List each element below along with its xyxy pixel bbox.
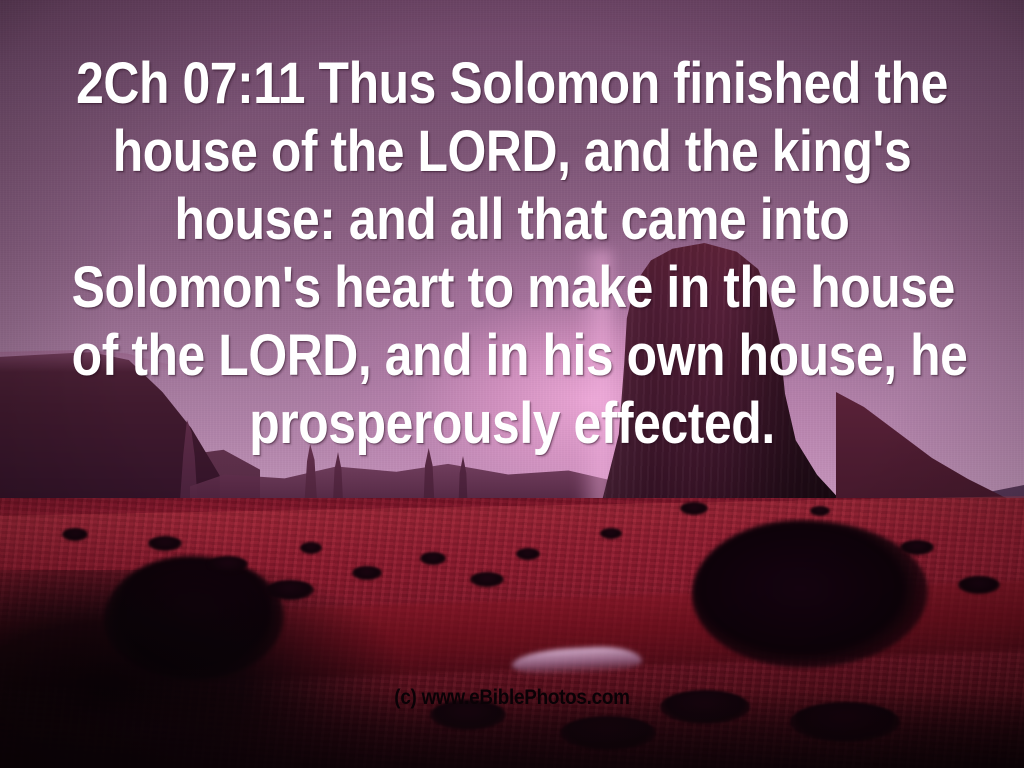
shrub [62, 528, 88, 541]
shrub [810, 506, 830, 516]
verse-line: of the LORD, and in his own house, he [72, 322, 953, 390]
verse-line: Solomon's heart to make in the house [72, 254, 953, 322]
shrub [900, 540, 934, 555]
shrub [470, 572, 504, 587]
verse-image-canvas: 2Ch 07:11 Thus Solomon finished the hous… [0, 0, 1024, 768]
shrub [516, 548, 540, 560]
verse-line: 2Ch 07:11 Thus Solomon finished the [72, 50, 953, 118]
verse-line: prosperously effected. [72, 390, 953, 458]
shrub [680, 502, 708, 515]
verse-line: house of the LORD, and the king's [72, 118, 953, 186]
verse-line: house: and all that came into [72, 186, 953, 254]
verse-overlay-text: 2Ch 07:11 Thus Solomon finished the hous… [72, 50, 953, 458]
shrub [300, 542, 322, 554]
shrub [420, 552, 446, 565]
shrub [958, 576, 1000, 594]
shrub [148, 536, 182, 551]
shrub [600, 528, 622, 539]
copyright-watermark: (c) www.eBiblePhotos.com [51, 686, 973, 710]
